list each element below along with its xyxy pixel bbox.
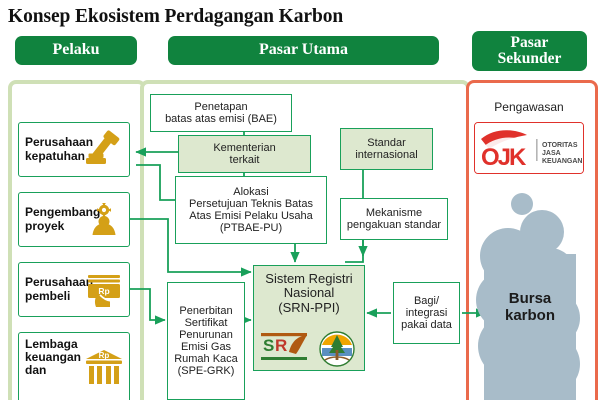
node-pengembang-proyek-line2: proyek: [25, 220, 91, 233]
node-perusahaan-pembeli[interactable]: Perusahaan pembeli Rp: [18, 262, 130, 317]
node-ptbae-pu-line4: (PTBAE-PU): [220, 222, 282, 234]
header-pelaku-label: Pelaku: [52, 42, 99, 59]
node-lembaga-keuangan-line3: dan: [25, 364, 81, 377]
node-spe-grk[interactable]: Penerbitan Sertifikat Penurunan Emisi Ga…: [167, 282, 245, 400]
header-pasar-sekunder: Pasar Sekunder: [472, 31, 587, 71]
node-ptbae-pu[interactable]: Alokasi Persetujuan Teknis Batas Atas Em…: [175, 176, 327, 244]
node-perusahaan-pembeli-line2: pembeli: [25, 290, 91, 303]
node-ptbae-pu-line2: Persetujuan Teknis Batas: [189, 198, 313, 210]
header-pasar-sekunder-line2: Sekunder: [498, 51, 562, 67]
node-kementerian-terkait[interactable]: Kementerian terkait: [178, 135, 311, 173]
node-mekanisme-line2: pengakuan standar: [347, 219, 441, 231]
node-penetapan-bae[interactable]: Penetapan batas atas emisi (BAE): [150, 94, 292, 132]
label-bursa-karbon-line1: Bursa: [470, 290, 590, 307]
svg-text:Rp: Rp: [98, 286, 109, 296]
node-ptbae-pu-line3: Atas Emisi Pelaku Usaha: [189, 210, 313, 222]
svg-text:R: R: [275, 336, 287, 355]
node-standar-internasional-line1: Standar: [367, 137, 406, 149]
node-perusahaan-kepatuhan-line1: Perusahaan: [25, 136, 91, 149]
bank-rupiah-icon: Rp: [84, 347, 124, 387]
label-bursa-karbon: Bursa karbon: [470, 290, 590, 325]
node-spe-grk-line1: Penerbitan: [179, 305, 232, 317]
project-developer-icon: [84, 200, 124, 240]
node-ptbae-pu-line1: Alokasi: [233, 186, 268, 198]
node-srn-line1: Sistem Registri: [265, 272, 352, 286]
node-mekanisme-line1: Mekanisme: [366, 207, 422, 219]
node-bagi-integrasi-pakai-data[interactable]: Bagi/ integrasi pakai data: [393, 282, 460, 344]
header-pasar-utama: Pasar Utama: [168, 36, 439, 65]
page-title: Konsep Ekosistem Perdagangan Karbon: [8, 6, 343, 28]
hand-money-rupiah-icon: Rp: [84, 270, 124, 310]
node-spe-grk-line5: Rumah Kaca: [174, 353, 238, 365]
gavel-icon: [84, 130, 124, 170]
header-pelaku: Pelaku: [15, 36, 137, 65]
ojk-line2: JASA: [542, 150, 561, 157]
node-kementerian-terkait-line1: Kementerian: [213, 142, 275, 154]
node-pengembang-proyek-line1: Pengembang: [25, 206, 91, 219]
node-spe-grk-line3: Penurunan: [179, 329, 233, 341]
srn-logo-group: S R: [259, 330, 359, 368]
ojk-line3: KEUANGAN: [542, 158, 582, 165]
svg-text:Rp: Rp: [99, 351, 110, 360]
node-perusahaan-pembeli-line1: Perusahaan: [25, 276, 91, 289]
header-pasar-sekunder-line1: Pasar: [498, 35, 562, 51]
srn-logo: S R: [259, 330, 313, 368]
node-standar-internasional-line2: internasional: [355, 149, 417, 161]
node-srn-line3: (SRN-PPI): [278, 301, 339, 315]
node-spe-grk-line4: Emisi Gas: [181, 341, 231, 353]
klhk-tree-logo: [320, 332, 354, 366]
node-penetapan-bae-line2: batas atas emisi (BAE): [165, 113, 277, 125]
ojk-line1: OTORITAS: [542, 142, 578, 149]
node-penetapan-bae-line1: Penetapan: [194, 101, 247, 113]
node-spe-grk-line6: (SPE-GRK): [178, 365, 235, 377]
label-pengawasan: Pengawasan: [466, 100, 592, 114]
node-srn-line2: Nasional: [284, 286, 335, 300]
node-spe-grk-line2: Sertifikat: [185, 317, 228, 329]
node-bagi-line2: integrasi: [406, 307, 448, 319]
node-lembaga-keuangan[interactable]: Lembaga keuangan dan Rp: [18, 332, 130, 400]
node-kementerian-terkait-line2: terkait: [230, 154, 260, 166]
svg-text:OJK: OJK: [481, 144, 527, 171]
node-standar-internasional[interactable]: Standar internasional: [340, 128, 433, 170]
svg-text:S: S: [263, 336, 274, 355]
node-bagi-line3: pakai data: [401, 319, 452, 331]
node-perusahaan-kepatuhan-line2: kepatuhan: [25, 150, 91, 163]
diagram-canvas: Konsep Ekosistem Perdagangan Karbon: [0, 0, 600, 400]
ojk-logo: OJK OTORITAS JASA KEUANGAN: [474, 122, 584, 174]
label-bursa-karbon-line2: karbon: [470, 307, 590, 324]
node-perusahaan-kepatuhan[interactable]: Perusahaan kepatuhan: [18, 122, 130, 177]
node-pengembang-proyek[interactable]: Pengembang proyek: [18, 192, 130, 247]
header-pasar-utama-label: Pasar Utama: [259, 42, 348, 59]
node-mekanisme-pengakuan-standar[interactable]: Mekanisme pengakuan standar: [340, 198, 448, 240]
node-bagi-line1: Bagi/: [414, 295, 439, 307]
